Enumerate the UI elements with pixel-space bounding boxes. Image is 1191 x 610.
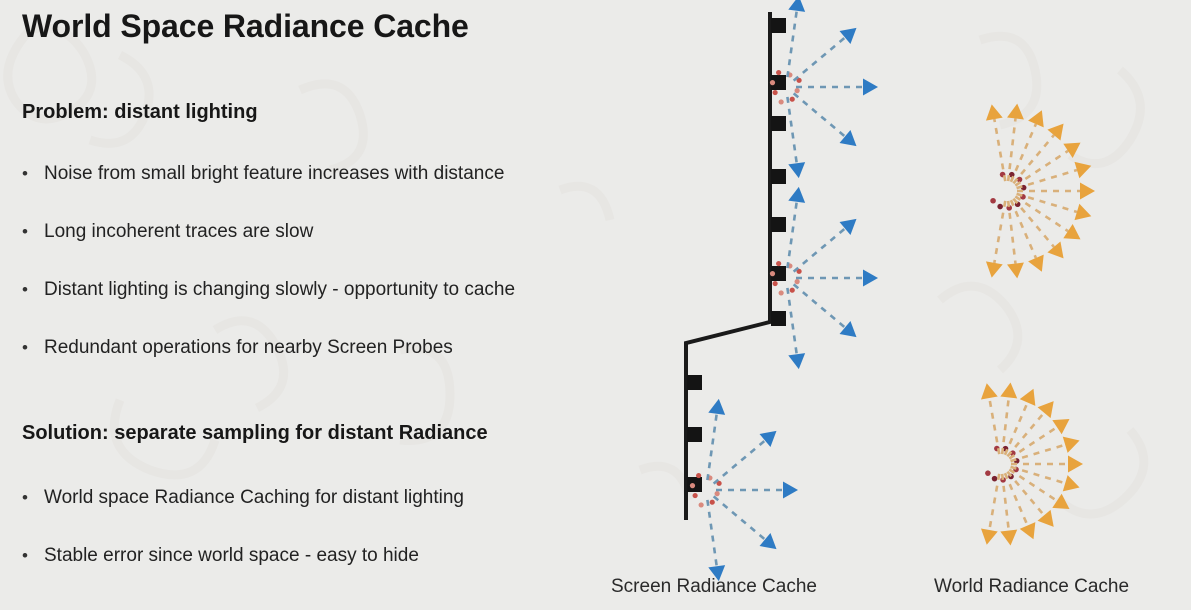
radiance-sample-dot bbox=[779, 99, 784, 104]
page-title: World Space Radiance Cache bbox=[22, 8, 469, 45]
screen-radiance-ray-shaft bbox=[714, 441, 765, 484]
radiance-sample-dot bbox=[779, 290, 784, 295]
radiance-sample-dot bbox=[715, 491, 720, 496]
world-radiance-ray-shaft bbox=[1008, 118, 1015, 181]
screen-probe-marker bbox=[771, 75, 786, 90]
screen-radiance-ray-shaft bbox=[794, 284, 845, 327]
world-radiance-ray-head bbox=[1063, 437, 1080, 453]
screen-probe-marker bbox=[771, 266, 786, 281]
world-radiance-ray-shaft bbox=[1017, 170, 1077, 188]
radiance-sample-dot bbox=[776, 261, 781, 266]
list-item: • Noise from small bright feature increa… bbox=[22, 163, 504, 185]
list-item: • Long incoherent traces are slow bbox=[22, 221, 313, 243]
world-radiance-ray-shaft bbox=[1005, 402, 1028, 454]
screen-radiance-ray-shaft bbox=[707, 414, 716, 480]
radiance-sample-dot bbox=[1003, 446, 1009, 452]
list-item-label: Stable error since world space - easy to… bbox=[44, 545, 419, 567]
screen-radiance-ray-head bbox=[840, 219, 857, 235]
list-item: • Stable error since world space - easy … bbox=[22, 545, 419, 567]
radiance-sample-dot bbox=[1017, 177, 1023, 183]
world-radiance-ray-shaft bbox=[1011, 445, 1066, 461]
radiance-sample-dot bbox=[707, 475, 712, 480]
screen-radiance-ray-head bbox=[760, 431, 777, 447]
screen-radiance-ray-head bbox=[840, 321, 857, 337]
screen-radiance-ray-shaft bbox=[787, 288, 796, 354]
radiance-sample-dot bbox=[990, 198, 996, 204]
world-radiance-ray-head bbox=[1080, 183, 1095, 200]
radiance-cache-diagram bbox=[0, 0, 1191, 610]
world-radiance-ray-head bbox=[1028, 110, 1044, 127]
screen-radiance-ray-head bbox=[760, 533, 777, 549]
radiance-sample-dot bbox=[790, 97, 795, 102]
screen-radiance-ray-shaft bbox=[707, 500, 716, 566]
bullet-marker-icon: • bbox=[22, 547, 44, 564]
list-item-label: World space Radiance Caching for distant… bbox=[44, 487, 464, 509]
world-radiance-ray-head bbox=[981, 383, 998, 399]
world-radiance-ray-shaft bbox=[1015, 151, 1068, 186]
list-item: • Redundant operations for nearby Screen… bbox=[22, 337, 453, 359]
radiance-sample-dot bbox=[796, 78, 801, 83]
bullet-marker-icon: • bbox=[22, 489, 44, 506]
screen-radiance-ray-head bbox=[788, 187, 805, 203]
problem-heading: Problem: distant lighting bbox=[22, 101, 258, 124]
world-radiance-ray-head bbox=[1068, 456, 1083, 473]
radiance-sample-dot bbox=[992, 476, 998, 482]
radiance-sample-dot bbox=[787, 263, 792, 268]
radiance-sample-dot bbox=[693, 493, 698, 498]
screen-probe-marker bbox=[771, 311, 786, 326]
screen-probe-marker bbox=[771, 116, 786, 131]
radiance-sample-dot bbox=[696, 473, 701, 478]
radiance-sample-dot bbox=[1006, 205, 1012, 211]
screen-probe-marker bbox=[771, 18, 786, 33]
screen-radiance-ray-head bbox=[708, 399, 725, 415]
world-radiance-ray-head bbox=[1000, 383, 1017, 399]
screen-radiance-cache-caption: Screen Radiance Cache bbox=[611, 576, 817, 598]
world-radiance-ray-head bbox=[1052, 419, 1069, 434]
world-radiance-ray-head bbox=[1063, 143, 1080, 158]
world-radiance-ray-shaft bbox=[1002, 397, 1009, 454]
radiance-sample-dot bbox=[770, 80, 775, 85]
radiance-sample-dot bbox=[1015, 201, 1021, 207]
radiance-sample-dot bbox=[1010, 450, 1016, 456]
screen-radiance-ray-shaft bbox=[794, 229, 845, 272]
world-radiance-ray-head bbox=[1020, 389, 1036, 406]
screen-radiance-ray-head bbox=[783, 482, 798, 499]
radiance-sample-dot bbox=[1008, 474, 1014, 480]
screen-radiance-ray-shaft bbox=[794, 38, 845, 81]
world-radiance-ray-shaft bbox=[1007, 413, 1044, 457]
world-radiance-ray-head bbox=[1074, 204, 1091, 220]
world-radiance-ray-head bbox=[1063, 224, 1080, 239]
world-radiance-ray-shaft bbox=[1008, 201, 1015, 264]
radiance-sample-dot bbox=[1000, 172, 1006, 178]
screen-radiance-ray-head bbox=[788, 0, 805, 12]
world-radiance-ray-shaft bbox=[994, 201, 1005, 263]
radiance-sample-dot bbox=[1013, 467, 1019, 473]
radiance-sample-dot bbox=[994, 446, 1000, 452]
list-item-label: Noise from small bright feature increase… bbox=[44, 163, 504, 185]
screen-radiance-ray-head bbox=[840, 130, 857, 146]
screen-probe-marker bbox=[687, 477, 702, 492]
world-radiance-ray-head bbox=[1007, 104, 1024, 120]
radiance-sample-dot bbox=[776, 70, 781, 75]
world-radiance-ray-shaft bbox=[1011, 124, 1036, 182]
radiance-sample-dot bbox=[795, 88, 800, 93]
world-radiance-ray-head bbox=[1000, 530, 1017, 546]
screen-radiance-ray-head bbox=[863, 270, 878, 287]
screen-probe-marker bbox=[771, 169, 786, 184]
radiance-sample-dot bbox=[795, 279, 800, 284]
screen-radiance-ray-head bbox=[863, 79, 878, 96]
world-radiance-ray-head bbox=[1007, 263, 1024, 279]
radiance-sample-dot bbox=[790, 288, 795, 293]
world-radiance-ray-head bbox=[981, 529, 998, 545]
world-radiance-ray-shaft bbox=[1007, 472, 1044, 516]
world-radiance-ray-head bbox=[986, 261, 1003, 277]
world-radiance-ray-head bbox=[1028, 255, 1044, 272]
world-radiance-ray-head bbox=[1074, 162, 1091, 178]
screen-radiance-ray-shaft bbox=[794, 93, 845, 136]
world-radiance-ray-shaft bbox=[1017, 194, 1077, 212]
radiance-sample-dot bbox=[770, 271, 775, 276]
list-item-label: Long incoherent traces are slow bbox=[44, 221, 313, 243]
radiance-sample-dot bbox=[796, 269, 801, 274]
screen-radiance-ray-head bbox=[788, 162, 805, 178]
list-item: • Distant lighting is changing slowly - … bbox=[22, 279, 515, 301]
world-radiance-ray-shaft bbox=[1009, 427, 1057, 458]
radiance-sample-dot bbox=[716, 481, 721, 486]
world-radiance-ray-head bbox=[986, 104, 1003, 120]
bullet-marker-icon: • bbox=[22, 339, 44, 356]
world-radiance-ray-shaft bbox=[1013, 199, 1053, 247]
radiance-sample-dot bbox=[690, 483, 695, 488]
screen-radiance-ray-head bbox=[840, 28, 857, 44]
radiance-sample-dot bbox=[997, 204, 1003, 210]
radiance-sample-dot bbox=[710, 500, 715, 505]
world-radiance-ray-shaft bbox=[1005, 473, 1028, 525]
bullet-marker-icon: • bbox=[22, 281, 44, 298]
screen-radiance-ray-shaft bbox=[787, 11, 796, 77]
background-watermark bbox=[0, 0, 1191, 610]
radiance-sample-dot bbox=[1000, 477, 1006, 483]
bullet-marker-icon: • bbox=[22, 165, 44, 182]
radiance-sample-dot bbox=[773, 90, 778, 95]
screen-probe-marker bbox=[771, 217, 786, 232]
radiance-sample-dot bbox=[787, 72, 792, 77]
world-radiance-ray-shaft bbox=[1009, 469, 1057, 500]
list-item-label: Distant lighting is changing slowly - op… bbox=[44, 279, 515, 301]
world-radiance-ray-shaft bbox=[1002, 474, 1009, 531]
world-radiance-ray-head bbox=[1063, 475, 1080, 491]
world-radiance-ray-head bbox=[1020, 522, 1036, 539]
world-radiance-ray-shaft bbox=[1015, 196, 1068, 231]
radiance-sample-dot bbox=[1020, 194, 1026, 200]
world-radiance-ray-head bbox=[1038, 510, 1054, 527]
radiance-sample-dot bbox=[1014, 458, 1020, 464]
world-radiance-ray-head bbox=[1047, 124, 1063, 141]
radiance-sample-dot bbox=[699, 502, 704, 507]
world-radiance-ray-head bbox=[1038, 401, 1054, 418]
screen-radiance-ray-shaft bbox=[787, 202, 796, 268]
world-radiance-ray-shaft bbox=[994, 119, 1005, 181]
radiance-sample-dot bbox=[1021, 185, 1027, 191]
list-item: • World space Radiance Caching for dista… bbox=[22, 487, 464, 509]
world-radiance-ray-shaft bbox=[989, 474, 999, 530]
world-radiance-ray-shaft bbox=[1011, 467, 1066, 483]
world-radiance-cache-caption: World Radiance Cache bbox=[934, 576, 1129, 598]
bullet-marker-icon: • bbox=[22, 223, 44, 240]
world-radiance-ray-head bbox=[1047, 241, 1063, 258]
list-item-label: Redundant operations for nearby Screen P… bbox=[44, 337, 453, 359]
screen-probe-marker bbox=[687, 427, 702, 442]
radiance-sample-dot bbox=[985, 470, 991, 476]
radiance-sample-dot bbox=[1009, 172, 1015, 178]
world-radiance-ray-shaft bbox=[1013, 135, 1053, 183]
screen-probe-marker bbox=[687, 375, 702, 390]
screen-radiance-ray-head bbox=[788, 353, 805, 369]
wall-geometry bbox=[686, 14, 770, 518]
solution-heading: Solution: separate sampling for distant … bbox=[22, 422, 488, 445]
radiance-sample-dot bbox=[773, 281, 778, 286]
screen-radiance-ray-shaft bbox=[787, 97, 796, 163]
world-radiance-ray-head bbox=[1052, 494, 1069, 509]
world-radiance-ray-shaft bbox=[1011, 200, 1036, 258]
world-radiance-ray-shaft bbox=[989, 398, 999, 454]
screen-radiance-ray-shaft bbox=[714, 496, 765, 539]
